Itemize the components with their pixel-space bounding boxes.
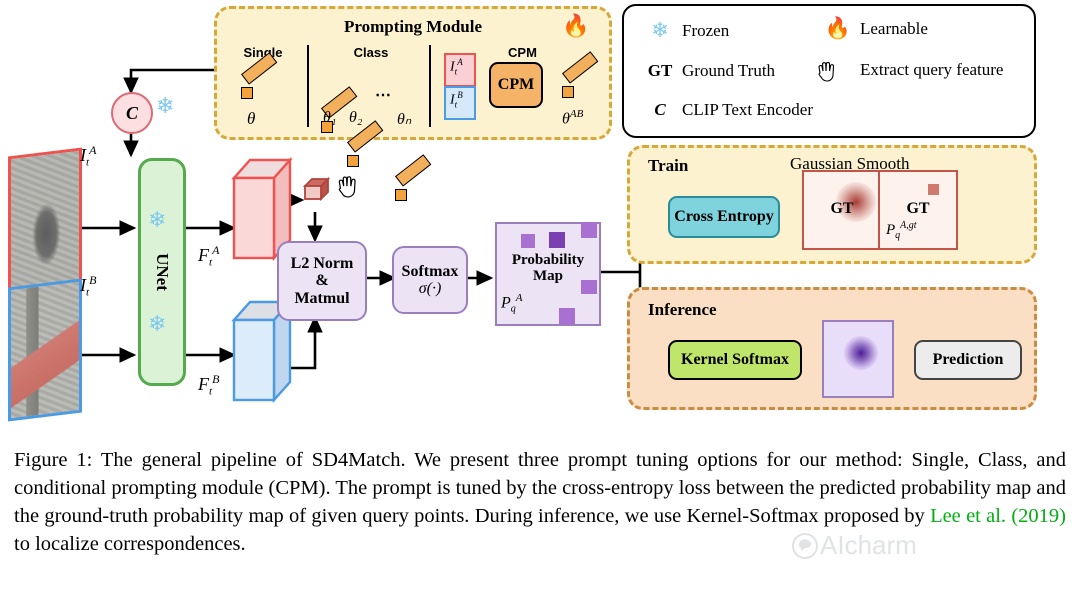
snowflake-icon: ❄	[148, 313, 166, 335]
cross-entropy-block: Cross Entropy	[668, 196, 780, 238]
label-image-b: ItB	[80, 273, 96, 299]
snowflake-icon: ❄	[638, 20, 682, 41]
legend-label-clip: CLIP Text Encoder	[682, 100, 813, 120]
prob-cell	[521, 234, 535, 248]
legend-row-hand: Extract query feature	[816, 58, 1003, 82]
cpm-input-a: ItA	[444, 53, 476, 87]
probmap-line-2: Map	[533, 268, 563, 284]
legend-label-hand: Extract query feature	[860, 60, 1003, 80]
prompting-module-panel: Prompting Module 🔥 Single θ Class θ₁ θ₂ …	[214, 6, 612, 140]
unet-block: ❄ UNet ❄	[138, 158, 186, 386]
gt-raw-symbol: PqA,gt	[886, 220, 917, 241]
hand-icon	[816, 58, 860, 82]
softmax-block: Softmax σ(·)	[392, 246, 468, 314]
train-title: Train	[648, 156, 688, 176]
snowflake-icon: ❄	[148, 209, 166, 231]
prediction-block: Prediction	[914, 340, 1022, 380]
softmax-line-1: Softmax	[402, 263, 459, 280]
theta-vector-n	[395, 169, 429, 203]
divider-1	[307, 45, 309, 127]
gt-smoothed-block: GT	[802, 170, 882, 250]
theta-label-ab: θAB	[562, 108, 583, 128]
theta-vector-single	[241, 67, 275, 101]
kernel-softmax-block: Kernel Softmax	[668, 340, 802, 380]
gt-raw-block: GT PqA,gt	[878, 170, 958, 250]
legend-label-frozen: Frozen	[682, 21, 729, 41]
probmap-symbol: PqA	[501, 292, 523, 315]
legend-panel: ❄ Frozen 🔥 Learnable GT Ground Truth Ext…	[622, 4, 1036, 138]
divider-2	[429, 45, 431, 127]
figure-diagram: Prompting Module 🔥 Single θ Class θ₁ θ₂ …	[0, 0, 1080, 440]
legend-row-frozen: ❄ Frozen	[638, 20, 729, 41]
flame-icon: 🔥	[816, 18, 860, 39]
theta-label-n: θₙ	[397, 109, 411, 129]
gt-smoothed-label: GT	[804, 200, 880, 218]
legend-label-learnable: Learnable	[860, 19, 928, 39]
gt-raw-label: GT	[880, 200, 956, 218]
label-image-a: ItA	[80, 143, 96, 169]
theta-label-2: θ₂	[349, 109, 362, 127]
ellipsis: ⋯	[375, 85, 391, 105]
inference-title: Inference	[648, 300, 717, 320]
softmax-line-2: σ(·)	[419, 280, 442, 297]
flame-icon: 🔥	[562, 15, 589, 37]
l2-line-1: L2 Norm	[291, 255, 354, 272]
snowflake-icon: ❄	[156, 95, 174, 117]
prediction-blob	[844, 336, 878, 370]
probmap-line-1: Probability	[512, 252, 584, 268]
cpm-block: CPM	[489, 62, 543, 108]
caption-text-1: The general pipeline of SD4Match. We pre…	[14, 449, 1066, 527]
inference-heatmap	[822, 320, 894, 398]
hand-icon	[336, 172, 360, 198]
gt-text-icon: GT	[638, 61, 682, 81]
theta-label-single: θ	[247, 109, 255, 129]
gt-point	[928, 184, 939, 195]
theta-label-1: θ₁	[323, 109, 336, 127]
prompting-module-title: Prompting Module	[217, 17, 609, 37]
prob-cell	[559, 308, 575, 324]
l2-norm-matmul-block: L2 Norm & Matmul	[277, 241, 367, 321]
legend-row-clip: C CLIP Text Encoder	[638, 100, 813, 120]
prob-cell	[581, 222, 597, 238]
caption-prefix: Figure 1:	[14, 449, 92, 471]
unet-label: UNet	[152, 253, 172, 291]
label-feature-b: FtB	[198, 372, 219, 398]
label-feature-a: FtA	[198, 243, 219, 269]
section-heading-class: Class	[321, 45, 421, 60]
cpm-input-b: ItB	[444, 86, 476, 120]
input-image-a	[8, 147, 82, 290]
theta-vector-ab	[562, 66, 596, 100]
c-text-icon: C	[638, 100, 682, 120]
probability-map-block: Probability Map PqA	[495, 222, 601, 326]
theta-vector-2	[347, 135, 381, 169]
figure-caption: Figure 1: The general pipeline of SD4Mat…	[14, 446, 1066, 558]
caption-text-2: to localize correspondences.	[14, 533, 246, 555]
cube-icon	[303, 176, 331, 206]
legend-label-gt: Ground Truth	[682, 61, 775, 81]
l2-line-2: &	[315, 272, 328, 289]
input-image-b	[8, 278, 82, 421]
l2-line-3: Matmul	[294, 290, 349, 307]
legend-row-learnable: 🔥 Learnable	[816, 18, 928, 39]
clip-label: C	[126, 103, 138, 124]
legend-row-gt: GT Ground Truth	[638, 61, 775, 81]
prob-cell	[549, 232, 565, 248]
clip-text-encoder-node: C	[111, 92, 153, 134]
caption-citation: Lee et al. (2019)	[930, 505, 1066, 527]
